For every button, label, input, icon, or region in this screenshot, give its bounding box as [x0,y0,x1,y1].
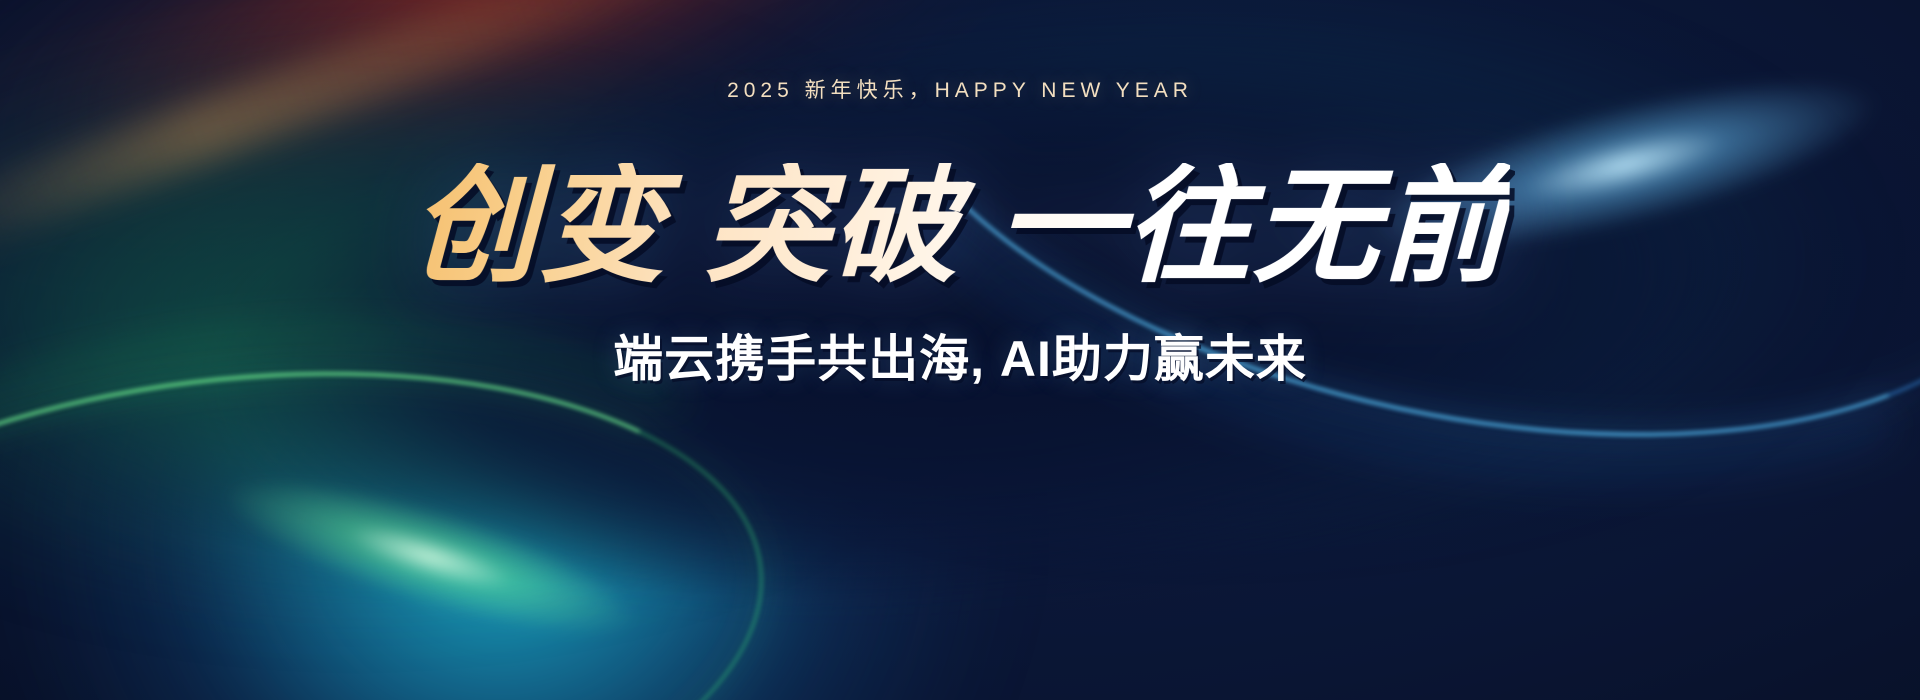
headline-text: 创变 突破 一往无前 [410,163,1510,292]
subheadline-text: 端云携手共出海, AI助力赢未来 [613,334,1307,384]
new-year-banner: 2025 新年快乐，HAPPY NEW YEAR 创变 突破 一往无前 端云携手… [0,0,1920,700]
eyebrow-text: 2025 新年快乐，HAPPY NEW YEAR [727,80,1193,101]
banner-content: 2025 新年快乐，HAPPY NEW YEAR 创变 突破 一往无前 端云携手… [0,0,1920,700]
